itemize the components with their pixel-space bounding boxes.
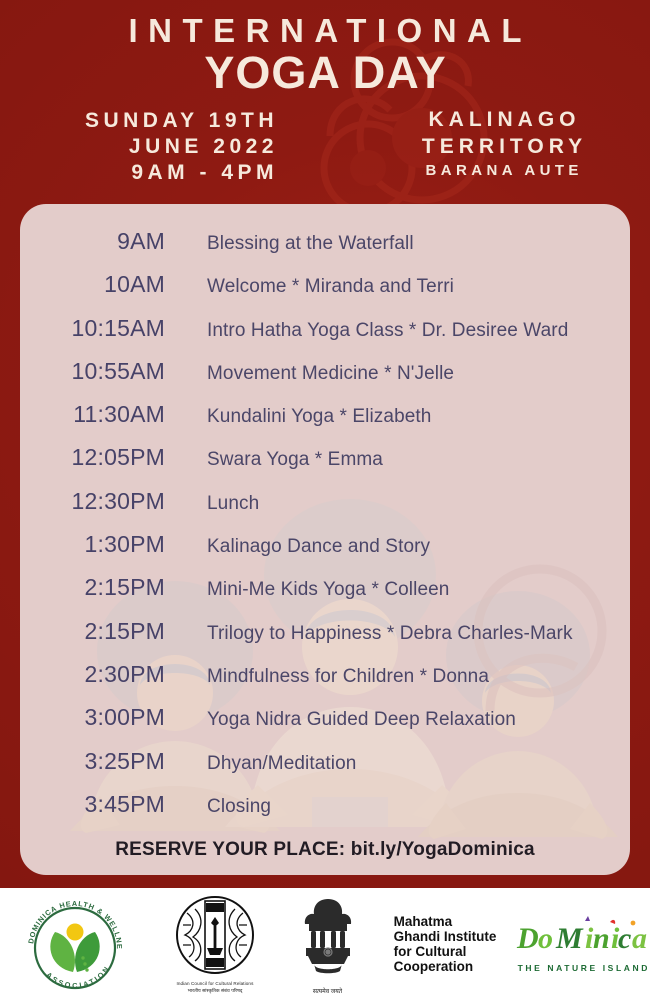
yoga-day-poster: INTERNATIONAL YOGA DAY SUNDAY 19TH JUNE …	[0, 0, 650, 1000]
event-date-line2: JUNE 2022	[28, 134, 278, 160]
mahatma-ghandi-institute-for-cultural-cooperation-logo: Mahatma Ghandi Institute for Cultural Co…	[375, 888, 515, 1000]
event-date-line1: SUNDAY 19TH	[28, 108, 278, 134]
schedule-event: Movement Medicine * N'Jelle	[207, 363, 454, 385]
schedule-row: 10:15AM Intro Hatha Yoga Class * Dr. Des…	[20, 315, 630, 358]
svg-text:D: D	[516, 922, 539, 955]
schedule-time: 11:30AM	[20, 401, 165, 428]
schedule-list: 9AM Blessing at the Waterfall 10AM Welco…	[20, 228, 630, 834]
poster-header: INTERNATIONAL YOGA DAY SUNDAY 19TH JUNE …	[0, 0, 650, 204]
schedule-row: 1:30PM Kalinago Dance and Story	[20, 531, 630, 574]
schedule-time: 2:15PM	[20, 574, 165, 601]
svg-text:a: a	[632, 922, 647, 955]
schedule-event: Mindfulness for Children * Donna	[207, 666, 489, 688]
schedule-event: Kalinago Dance and Story	[207, 536, 430, 558]
schedule-event: Kundalini Yoga * Elizabeth	[207, 406, 431, 428]
emblem-motto: सत्यमेव जयते	[296, 987, 360, 995]
schedule-time: 10AM	[20, 271, 165, 298]
schedule-time: 3:45PM	[20, 791, 165, 818]
schedule-row: 11:30AM Kundalini Yoga * Elizabeth	[20, 401, 630, 444]
dominica-tagline: THE NATURE ISLAND	[515, 963, 650, 973]
schedule-time: 3:00PM	[20, 704, 165, 731]
schedule-event: Yoga Nidra Guided Deep Relaxation	[207, 709, 516, 731]
event-date-block: SUNDAY 19TH JUNE 2022 9AM - 4PM	[28, 108, 278, 186]
schedule-event: Blessing at the Waterfall	[207, 233, 414, 255]
schedule-row: 3:45PM Closing	[20, 791, 630, 834]
schedule-row: 10:55AM Movement Medicine * N'Jelle	[20, 358, 630, 401]
schedule-time: 2:15PM	[20, 618, 165, 645]
schedule-card: 9AM Blessing at the Waterfall 10AM Welco…	[20, 204, 630, 875]
poster-background: INTERNATIONAL YOGA DAY SUNDAY 19TH JUNE …	[0, 0, 650, 888]
schedule-event: Swara Yoga * Emma	[207, 449, 383, 471]
schedule-row: 10AM Welcome * Miranda and Terri	[20, 271, 630, 314]
event-location-line1: KALINAGO	[376, 106, 628, 133]
iccr-caption-hi: भारतीय सांस्कृतिक संबंध परिषद्	[171, 988, 259, 994]
mgicc-line2: Ghandi Institute	[394, 929, 497, 944]
schedule-event: Mini-Me Kids Yoga * Colleen	[207, 579, 449, 601]
mgicc-line1: Mahatma	[394, 914, 497, 929]
schedule-row: 3:00PM Yoga Nidra Guided Deep Relaxation	[20, 704, 630, 747]
event-venue: BARANA AUTE	[376, 160, 628, 182]
schedule-time: 12:05PM	[20, 444, 165, 471]
schedule-time: 10:55AM	[20, 358, 165, 385]
iccr-caption-en: Indian Council for Cultural Relations	[171, 981, 259, 987]
svg-text:o: o	[538, 922, 553, 955]
mgicc-line4: Cooperation	[394, 959, 497, 974]
event-time-range: 9AM - 4PM	[28, 160, 278, 186]
schedule-row: 2:15PM Trilogy to Happiness * Debra Char…	[20, 618, 630, 661]
schedule-event: Intro Hatha Yoga Class * Dr. Desiree War…	[207, 320, 568, 342]
schedule-event: Closing	[207, 796, 271, 818]
reservation-link[interactable]: RESERVE YOUR PLACE: bit.ly/YogaDominica	[20, 839, 630, 861]
schedule-row: 9AM Blessing at the Waterfall	[20, 228, 630, 271]
svg-text:n: n	[593, 922, 610, 955]
page-title-line1: INTERNATIONAL	[0, 14, 650, 47]
svg-text:M: M	[555, 922, 584, 955]
schedule-row: 3:25PM Dhyan/Meditation	[20, 748, 630, 791]
schedule-event: Lunch	[207, 493, 259, 515]
schedule-event: Trilogy to Happiness * Debra Charles-Mar…	[207, 623, 573, 645]
event-location-line2: TERRITORY	[376, 133, 628, 160]
india-state-emblem-logo: सत्यमेव जयते	[280, 888, 375, 1000]
event-location-block: KALINAGO TERRITORY BARANA AUTE	[376, 106, 628, 182]
schedule-time: 9AM	[20, 228, 165, 255]
schedule-row: 2:15PM Mini-Me Kids Yoga * Colleen	[20, 574, 630, 617]
schedule-event: Welcome * Miranda and Terri	[207, 276, 454, 298]
svg-text:c: c	[618, 922, 631, 955]
schedule-row: 2:30PM Mindfulness for Children * Donna	[20, 661, 630, 704]
indian-council-for-cultural-relations-logo: Indian Council for Cultural Relations भा…	[150, 888, 280, 1000]
schedule-time: 12:30PM	[20, 488, 165, 515]
schedule-event: Dhyan/Meditation	[207, 753, 356, 775]
page-title-line2: YOGA DAY	[0, 50, 650, 95]
schedule-row: 12:05PM Swara Yoga * Emma	[20, 444, 630, 487]
dominica-health-and-wellness-association-logo: DOMINICA HEALTH & WELLNESS ASSOCIATION	[0, 888, 150, 1000]
schedule-time: 3:25PM	[20, 748, 165, 775]
schedule-time: 2:30PM	[20, 661, 165, 688]
schedule-row: 12:30PM Lunch	[20, 488, 630, 531]
schedule-time: 1:30PM	[20, 531, 165, 558]
mgicc-line3: for Cultural	[394, 944, 497, 959]
sponsor-logo-strip: DOMINICA HEALTH & WELLNESS ASSOCIATION	[0, 888, 650, 1000]
dominica-the-nature-island-logo: D o M i n i c a THE NATURE ISLAND	[515, 888, 650, 1000]
schedule-time: 10:15AM	[20, 315, 165, 342]
